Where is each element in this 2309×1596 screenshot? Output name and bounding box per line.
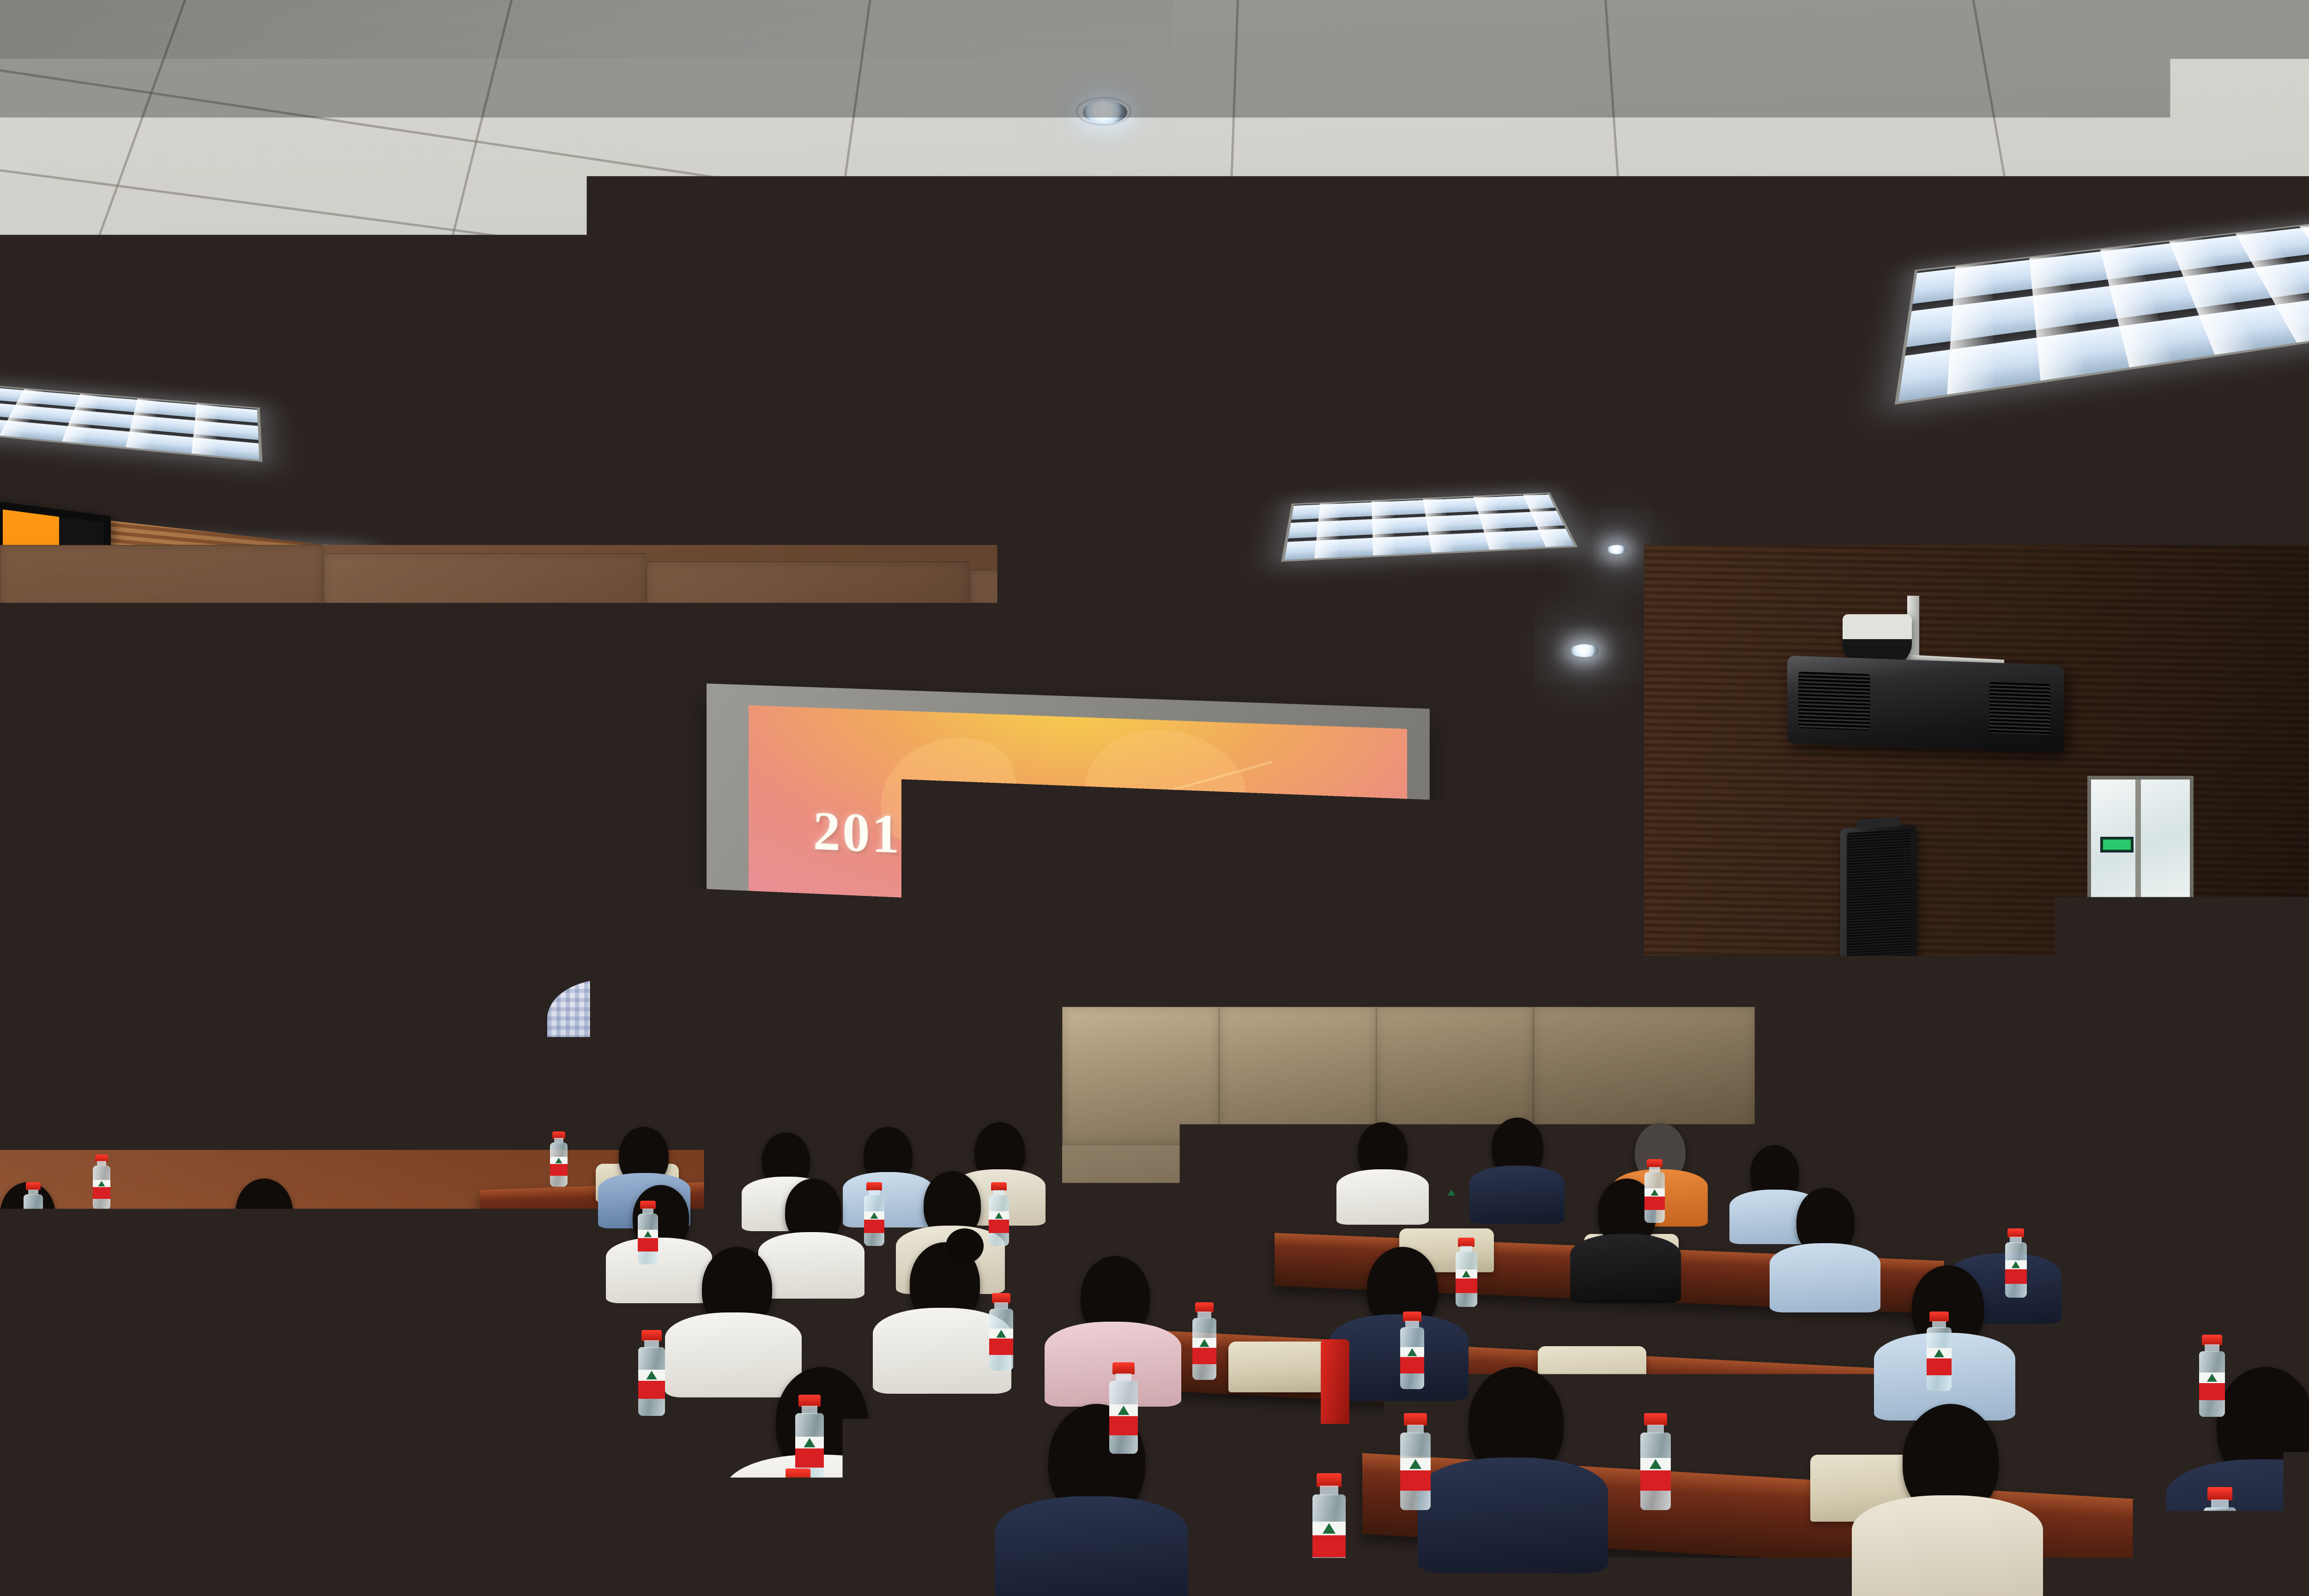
seat-back bbox=[0, 1469, 115, 1533]
exit-sign bbox=[2100, 837, 2134, 852]
water-bottle[interactable] bbox=[1191, 1302, 1217, 1380]
slide-title-line1: 2017级工商管理硕士（MBA） bbox=[749, 783, 1407, 972]
water-bottle[interactable] bbox=[864, 1182, 885, 1246]
water-bottle[interactable] bbox=[1312, 1473, 1347, 1578]
water-bottle[interactable] bbox=[2217, 1238, 2241, 1310]
water-bottle[interactable] bbox=[780, 1469, 816, 1574]
water-bottle[interactable] bbox=[1658, 1316, 1685, 1396]
glasses-icon bbox=[600, 957, 645, 967]
slide-image: 2017级工商管理硕士（MBA） 新生开学典礼 商学院 2017年 日 bbox=[749, 706, 1407, 1199]
audience-torso bbox=[1418, 1457, 1608, 1573]
audience-torso bbox=[665, 1312, 802, 1397]
audience-torso bbox=[1469, 1166, 1565, 1224]
seat-back bbox=[924, 1441, 1058, 1505]
water-bottle[interactable] bbox=[92, 1155, 111, 1210]
lecture-hall-photo: 2017级工商管理硕士（MBA） 新生开学典礼 商学院 2017年 日 bbox=[0, 0, 2309, 1596]
water-bottle[interactable] bbox=[1196, 1159, 1216, 1220]
water-bottle[interactable] bbox=[2198, 1335, 2226, 1417]
water-bottle[interactable] bbox=[1399, 1312, 1425, 1389]
water-bottle[interactable] bbox=[1455, 1238, 1478, 1307]
audience-torso bbox=[1852, 1495, 2043, 1596]
water-bottle[interactable] bbox=[1639, 1413, 1672, 1510]
audience-torso bbox=[0, 1233, 74, 1298]
water-bottle[interactable] bbox=[305, 1145, 324, 1203]
red-thermos[interactable] bbox=[1321, 1339, 1349, 1432]
water-bottle[interactable] bbox=[637, 1330, 666, 1416]
water-bottle[interactable] bbox=[236, 1228, 258, 1295]
water-bottle[interactable] bbox=[637, 1201, 659, 1264]
water-bottle[interactable] bbox=[988, 1293, 1014, 1371]
audience-torso bbox=[210, 1232, 317, 1299]
water-bottle[interactable] bbox=[1441, 1159, 1462, 1223]
speaker-name-card: 彭新敏 bbox=[706, 1046, 788, 1083]
ceiling-projector bbox=[1787, 656, 2064, 753]
audience-torso bbox=[995, 1496, 1188, 1596]
water-bottle[interactable] bbox=[2004, 1228, 2027, 1298]
audience-torso bbox=[226, 1487, 411, 1596]
water-bottle[interactable] bbox=[2203, 1487, 2237, 1590]
audience-torso bbox=[606, 1238, 712, 1303]
water-bottle[interactable] bbox=[1926, 1312, 1952, 1391]
water-bottle[interactable] bbox=[988, 1182, 1009, 1246]
seat-back bbox=[0, 1330, 97, 1380]
audience-torso bbox=[843, 1172, 933, 1227]
audience-torso bbox=[1770, 1243, 1880, 1312]
hair-bun bbox=[946, 1228, 984, 1263]
water-bottle[interactable] bbox=[185, 1275, 209, 1346]
audience-torso bbox=[758, 1232, 864, 1299]
seat-back bbox=[397, 1353, 503, 1403]
slide-title-line2: 新生开学典礼 bbox=[749, 996, 1407, 1115]
water-bottle[interactable] bbox=[1399, 1413, 1432, 1510]
water-bottle[interactable] bbox=[1644, 1159, 1665, 1223]
water-bottle[interactable] bbox=[1108, 1362, 1139, 1454]
water-bottle[interactable] bbox=[23, 1182, 43, 1242]
water-bottle[interactable] bbox=[1750, 1247, 1773, 1316]
banner-line-3: 商学院研究生会 bbox=[584, 1138, 732, 1154]
water-jug bbox=[1822, 974, 1891, 1060]
audience-torso bbox=[2166, 1459, 2309, 1579]
